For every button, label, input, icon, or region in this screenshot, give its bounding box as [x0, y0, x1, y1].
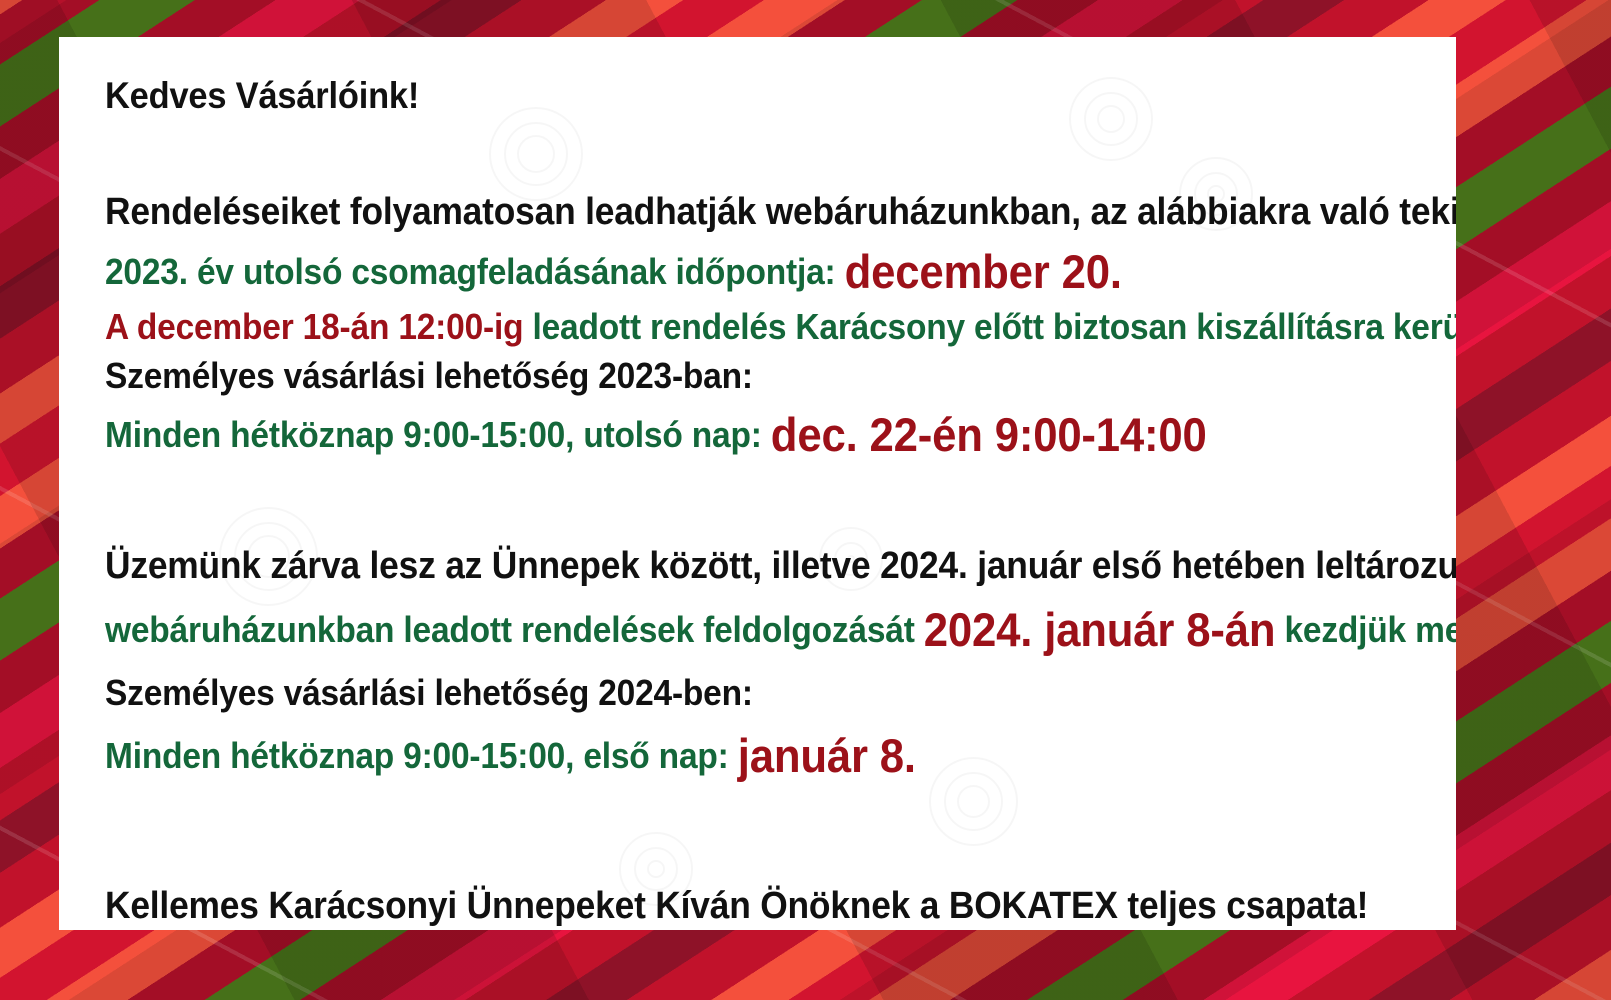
last-shipment-row: 2023. év utolsó csomagfeladásának időpon… — [105, 247, 1361, 298]
hours-2024-row: Minden hétköznap 9:00-15:00, első nap: j… — [105, 731, 1361, 782]
hours-2024-value: január 8. — [738, 729, 916, 782]
order-deadline-rest: leadott rendelés Karácsony előtt biztosa… — [532, 306, 1456, 347]
order-deadline-prefix: A december 18-án 12:00-ig — [105, 306, 523, 347]
processing-suffix: kezdjük meg. — [1284, 609, 1456, 650]
in-person-2023-label: Személyes vásárlási lehetőség 2023-ban: — [105, 357, 1361, 396]
holiday-notice-poster: Kedves Vásárlóink! Rendeléseiket folyama… — [0, 0, 1611, 1000]
last-shipment-value: december 20. — [845, 245, 1122, 298]
last-shipment-label: 2023. év utolsó csomagfeladásának időpon… — [105, 251, 835, 292]
hours-2023-row: Minden hétköznap 9:00-15:00, utolsó nap:… — [105, 410, 1361, 461]
hours-2023-label: Minden hétköznap 9:00-15:00, utolsó nap: — [105, 414, 762, 455]
notice-content: Kedves Vásárlóink! Rendeléseiket folyama… — [83, 77, 1456, 927]
notice-card: Kedves Vásárlóink! Rendeléseiket folyama… — [59, 37, 1456, 930]
edge-marker — [1438, 781, 1446, 789]
hours-2023-value: dec. 22-én 9:00-14:00 — [771, 408, 1207, 461]
processing-start-row: webáruházunkban leadott rendelések feldo… — [105, 605, 1361, 656]
intro-paragraph: Rendeléseiket folyamatosan leadhatják we… — [105, 192, 1361, 233]
processing-date: 2024. január 8-án — [924, 603, 1276, 656]
order-deadline-row: A december 18-án 12:00-ig leadott rendel… — [105, 308, 1361, 347]
closure-notice: Üzemünk zárva lesz az Ünnepek között, il… — [105, 546, 1361, 587]
in-person-2024-label: Személyes vásárlási lehetőség 2024-ben: — [105, 674, 1361, 713]
hours-2024-label: Minden hétköznap 9:00-15:00, első nap: — [105, 735, 729, 776]
page-title: Kedves Vásárlóink! — [105, 77, 1361, 114]
processing-prefix: webáruházunkban leadott rendelések feldo… — [105, 609, 915, 650]
closing-greeting: Kellemes Karácsonyi Ünnepeket Kíván Önök… — [105, 886, 1361, 927]
